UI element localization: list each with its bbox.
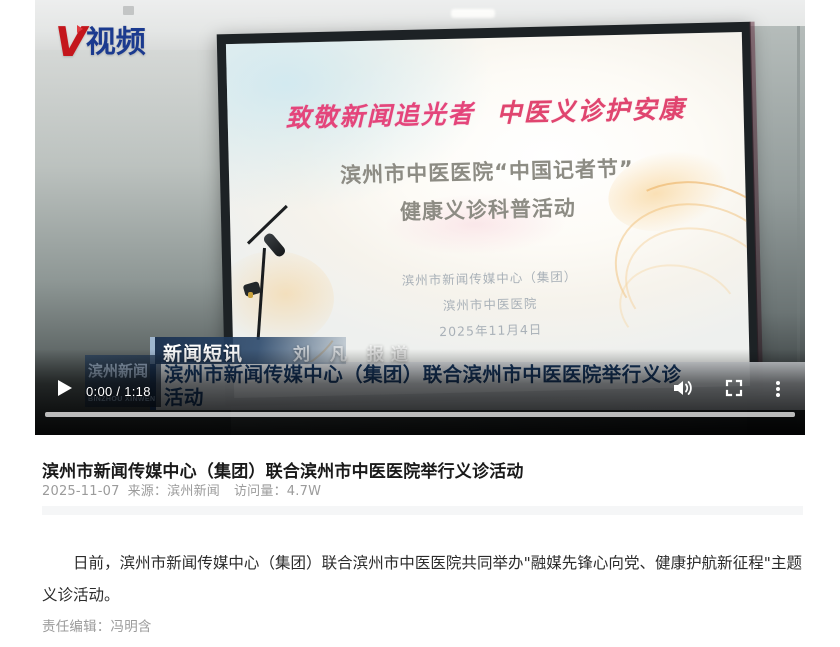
watermark-v-icon: V [55,22,85,63]
watermark-play-dot-icon [77,25,83,33]
video-player[interactable]: 致敬新闻追光者中医义诊护安康 滨州市中医医院“中国记者节” 健康义诊科普活动 滨… [35,0,805,435]
progress-scrubber[interactable] [45,412,795,417]
banner-headline-right: 中医义诊护安康 [496,94,686,127]
article-page: 致敬新闻追光者中医义诊护安康 滨州市中医医院“中国记者节” 健康义诊科普活动 滨… [0,0,840,647]
banner-organizer-line2: 滨州市中医医院 [232,288,748,319]
article-source: 滨州新闻 [167,484,220,499]
play-button[interactable] [50,373,80,403]
article-meta: 2025-11-07来源：滨州新闻访问量：4.7W [42,480,321,499]
banner-subtitle-line1: 滨州市中医医院“中国记者节” [229,150,746,192]
video-watermark-logo: V 视频 [55,22,146,63]
banner-headline-left: 致敬新闻追光者 [285,99,475,132]
article-source-label: 来源： [128,484,168,499]
article-views-label: 访问量： [234,484,287,499]
volume-button[interactable] [667,373,697,403]
microphone-clip-accent [248,292,253,298]
banner-headline: 致敬新闻追光者中医义诊护安康 [227,88,744,136]
article-date: 2025-11-07 [42,484,120,499]
watermark-label: 视频 [86,28,146,58]
volume-icon [667,373,697,403]
more-dot-1-icon [776,381,780,385]
play-icon [58,380,72,396]
banner-subtitle-line2: 健康义诊科普活动 [230,188,747,230]
section-divider [42,506,803,515]
fullscreen-button[interactable] [719,373,749,403]
more-dot-3-icon [776,393,780,397]
ceiling-light [451,9,495,18]
fullscreen-icon [719,373,749,403]
article-views: 4.7W [287,484,321,499]
article-body: 日前，滨州市新闻传媒中心（集团）联合滨州市中医医院共同举办"融媒先锋心向党、健康… [42,547,802,611]
more-options-button[interactable] [763,373,793,403]
ceiling-vent [123,6,134,15]
more-dot-2-icon [776,387,780,391]
article-editor: 责任编辑：冯明含 [42,615,152,635]
time-display: 0:00 / 1:18 [86,384,151,399]
banner-organizer-line1: 滨州市新闻传媒中心（集团） [231,262,747,293]
